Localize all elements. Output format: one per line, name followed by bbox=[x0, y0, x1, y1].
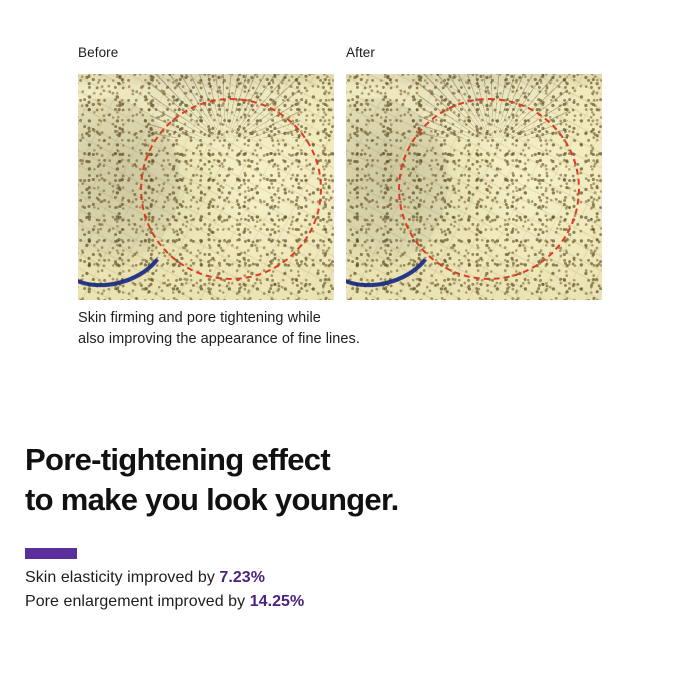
headline: Pore-tightening effect to make you look … bbox=[25, 440, 399, 520]
stat-row: Skin elasticity improved by 7.23% bbox=[25, 566, 304, 590]
comparison-row: Before After bbox=[78, 44, 602, 300]
comparison-caption: Skin firming and pore tightening while a… bbox=[78, 308, 360, 350]
headline-line-2: to make you look younger. bbox=[25, 480, 399, 520]
stat-label: Pore enlargement improved by bbox=[25, 593, 245, 610]
product-claim-infographic: Before After bbox=[0, 0, 679, 679]
caption-line-2: also improving the appearance of fine li… bbox=[78, 329, 360, 350]
after-label: After bbox=[346, 44, 602, 62]
stat-value: 14.25% bbox=[250, 593, 305, 610]
red-dashed-circle-overlay bbox=[140, 98, 322, 280]
before-after-comparison: Before After bbox=[78, 44, 602, 300]
red-dashed-circle-overlay bbox=[398, 98, 580, 280]
stat-row: Pore enlargement improved by 14.25% bbox=[25, 590, 304, 614]
stat-label: Skin elasticity improved by bbox=[25, 569, 215, 586]
before-panel: Before bbox=[78, 44, 334, 300]
caption-line-1: Skin firming and pore tightening while bbox=[78, 308, 360, 329]
before-micrograph-image bbox=[78, 74, 334, 300]
accent-rule-divider bbox=[25, 548, 77, 559]
stat-value: 7.23% bbox=[219, 569, 265, 586]
after-panel: After bbox=[346, 44, 602, 300]
headline-line-1: Pore-tightening effect bbox=[25, 440, 399, 480]
before-label: Before bbox=[78, 44, 334, 62]
after-micrograph-image bbox=[346, 74, 602, 300]
stats-list: Skin elasticity improved by 7.23% Pore e… bbox=[25, 566, 304, 614]
